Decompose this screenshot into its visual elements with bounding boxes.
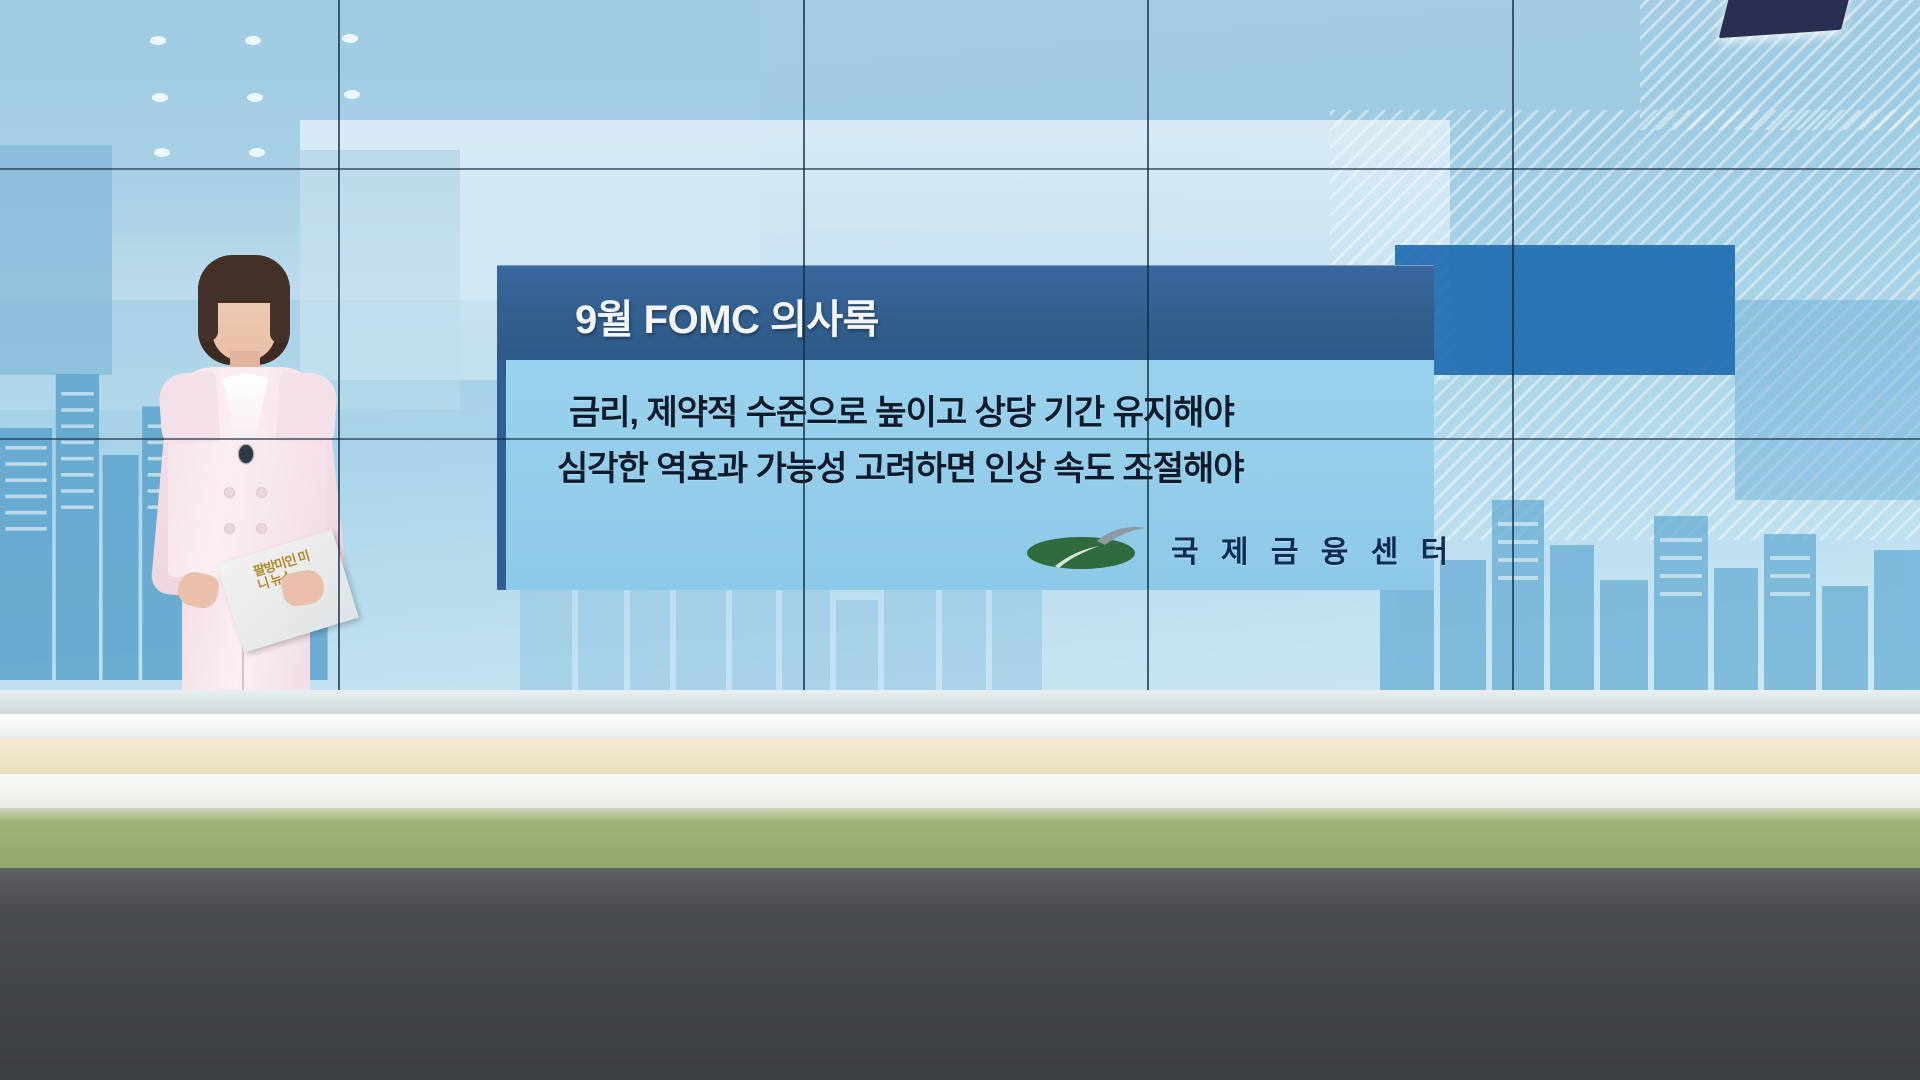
ceiling-dot-icon: [344, 90, 360, 99]
anchor-jacket-button: [224, 487, 235, 498]
set-ledge-top: [0, 690, 1920, 714]
ceiling-dot-icon: [154, 148, 170, 157]
set-band-green-highlight: [0, 808, 1920, 822]
card-accent-stripe: [497, 360, 506, 590]
anchor-jacket-button: [256, 523, 267, 534]
anchor-hair-right: [270, 277, 290, 343]
card-header-band: 9월 FOMC 의사록: [497, 265, 1434, 360]
anchor-jacket-button: [224, 523, 235, 534]
cityscape-right: [1380, 430, 1920, 705]
anchor-shoulder-right: [276, 371, 339, 445]
source-logo: 국 제 금 융 센 터: [1025, 515, 1425, 575]
wall-block-right: [1395, 245, 1735, 375]
source-logo-label: 국 제 금 융 센 터: [1171, 527, 1455, 571]
ceiling-dot-icon: [249, 148, 265, 157]
kcif-leaf-icon: [1025, 525, 1153, 571]
ceiling-dot-icon: [342, 34, 358, 43]
anchor-jacket-button: [256, 487, 267, 498]
set-ledge-white: [0, 714, 1920, 738]
anchor-hair-left: [198, 277, 218, 341]
set-ledge-cream: [0, 738, 1920, 774]
anchor-brooch-icon: [239, 445, 253, 463]
broadcast-frame: 9월 FOMC 의사록 금리, 제약적 수준으로 높이고 상당 기간 유지해야 …: [0, 0, 1920, 1080]
lower-third-graphic-card: 9월 FOMC 의사록 금리, 제약적 수준으로 높이고 상당 기간 유지해야 …: [497, 265, 1434, 590]
card-title: 9월 FOMC 의사록: [575, 287, 879, 345]
ceiling-dot-icon: [247, 93, 263, 102]
ceiling-dot-icon: [150, 36, 166, 45]
ceiling-dot-icon: [245, 36, 261, 45]
ceiling-dot-icon: [152, 93, 168, 102]
card-body-line-2: 심각한 역효과 가능성 고려하면 인상 속도 조절해야: [557, 441, 1244, 490]
card-body-line-1: 금리, 제약적 수준으로 높이고 상당 기간 유지해야: [569, 385, 1234, 434]
studio-floor-sheen: [0, 868, 1920, 908]
anchor-shoulder-left: [158, 371, 221, 445]
set-ledge-white-lower: [0, 774, 1920, 808]
